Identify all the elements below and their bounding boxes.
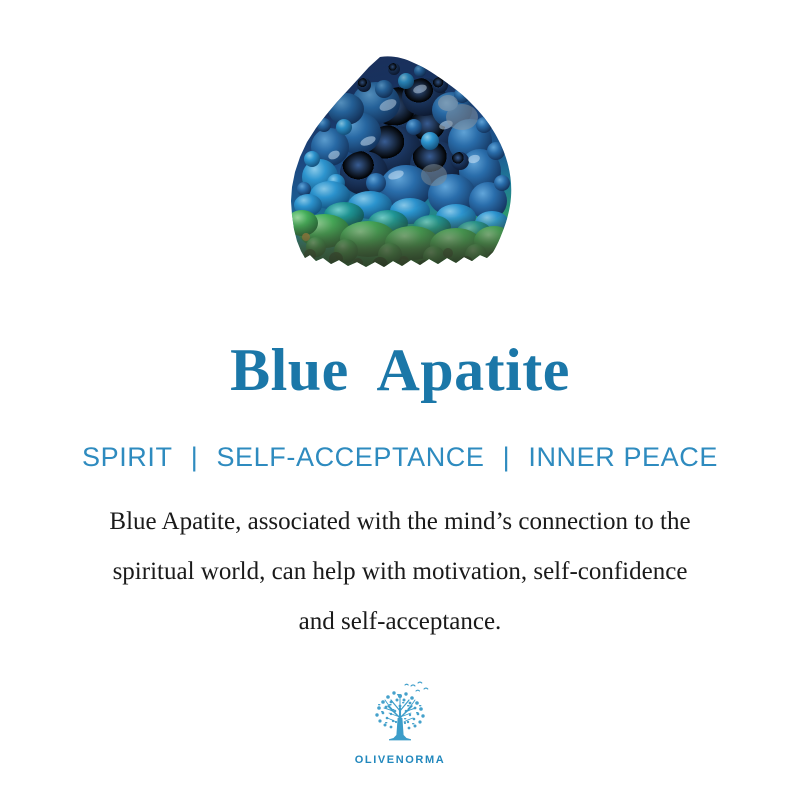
keyword-separator-2: |	[493, 443, 521, 473]
specimen-image-area	[0, 0, 800, 300]
brand-logo: OLIVENORMA	[0, 678, 800, 766]
page-title: Blue Apatite	[0, 340, 800, 400]
specimen-image-wrapper	[284, 55, 516, 277]
keyword-self-acceptance: SELF-ACCEPTANCE	[216, 443, 484, 473]
specimen-body	[284, 55, 516, 277]
description-line-1: Blue Apatite, associated with the mind’s…	[0, 497, 800, 547]
keyword-list: SPIRIT | SELF-ACCEPTANCE | INNER PEACE	[0, 443, 800, 473]
blue-apatite-specimen-image	[284, 55, 516, 277]
description-text: Blue Apatite, associated with the mind’s…	[0, 497, 800, 647]
description-line-3: and self-acceptance.	[0, 597, 800, 647]
keyword-spirit: SPIRIT	[82, 443, 173, 473]
brand-name: OLIVENORMA	[355, 754, 446, 766]
blue-apatite-info-card: Blue Apatite SPIRIT | SELF-ACCEPTANCE | …	[0, 0, 800, 800]
keyword-inner-peace: INNER PEACE	[528, 443, 718, 473]
keyword-separator-1: |	[181, 443, 209, 473]
description-line-2: spiritual world, can help with motivatio…	[0, 547, 800, 597]
olivenorma-tree-logo-icon	[361, 678, 439, 750]
tree-birds-icon	[405, 682, 428, 691]
